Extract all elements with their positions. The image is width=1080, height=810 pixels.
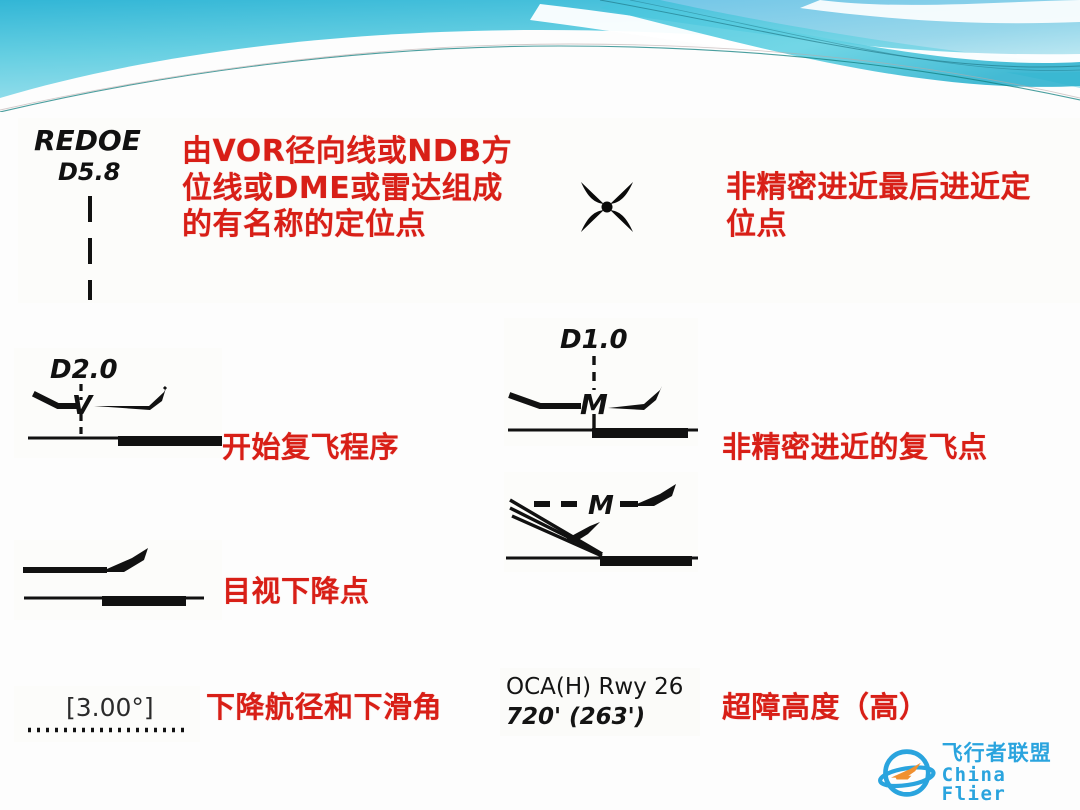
missed-approach-start-symbol: D2.0 V [14, 348, 222, 458]
watermark-chinese: 飞行者联盟 [942, 743, 1074, 764]
caption-oca: 超障高度（高） [722, 690, 1022, 725]
slide-canvas: REDOE D5.8 由VOR径向线或NDB方位线或DME或雷达组成的有名称的定… [0, 0, 1080, 810]
missed-approach-point-symbol: D1.0 M [504, 318, 698, 446]
caption-missed-approach-start: 开始复飞程序 [222, 430, 502, 465]
watermark-text: 飞行者联盟 China Flier [942, 743, 1074, 804]
caption-descent-path-angle: 下降航径和下滑角 [206, 690, 496, 725]
oca-line1-label: OCA(H) Rwy 26 [506, 674, 683, 700]
descent-path-angle-graphic: [3.00°] [14, 686, 200, 742]
named-fix-distance-label: D5.8 [58, 158, 120, 186]
named-fix-graphic: REDOE D5.8 [18, 118, 168, 303]
oca-box-graphic: OCA(H) Rwy 26 720' (263') [500, 668, 700, 736]
visual-descent-point-graphic [14, 540, 222, 620]
header-decorative-band [0, 0, 1080, 112]
missed-approach-start-graphic: D2.0 V [14, 348, 222, 458]
glide-angle-label: [3.00°] [66, 693, 154, 722]
vdp-runway-bar [102, 596, 186, 606]
caption-visual-descent-point: 目视下降点 [222, 574, 472, 609]
missed-approach-profile-graphic: M [504, 472, 698, 572]
missed-approach-point-graphic: D1.0 M [504, 318, 698, 446]
map-point-marker-label: M [580, 388, 608, 421]
maltese-cross-graphic [568, 168, 646, 246]
map-point-distance-label: D1.0 [560, 325, 628, 355]
profile-runway-bar [600, 556, 692, 566]
caption-missed-approach-point: 非精密进近的复飞点 [722, 430, 1062, 465]
watermark-logo: 飞行者联盟 China Flier [878, 740, 1074, 806]
map-point-runway-bar [592, 428, 688, 438]
oca-line2-label: 720' (263') [506, 704, 645, 730]
map-start-runway-bar [118, 436, 222, 446]
visual-descent-point-symbol [14, 540, 222, 620]
caption-maltese-cross: 非精密进近最后进近定位点 [726, 170, 1046, 243]
caption-named-fix: 由VOR径向线或NDB方位线或DME或雷达组成的有名称的定位点 [182, 134, 527, 244]
airplane-orbit-icon [878, 744, 936, 802]
named-fix-name-label: REDOE [34, 124, 141, 157]
oca-box-symbol: OCA(H) Rwy 26 720' (263') [500, 668, 700, 736]
maltese-cross-symbol [568, 168, 646, 246]
map-start-distance-label: D2.0 [50, 355, 118, 385]
map-start-arrow-tip [164, 387, 166, 389]
watermark-english: China Flier [942, 766, 1074, 804]
missed-approach-profile-symbol: M [504, 472, 698, 572]
header-wave-graphic [0, 0, 1080, 112]
descent-path-angle-symbol: [3.00°] [14, 686, 200, 742]
profile-marker-label: M [588, 491, 614, 521]
map-start-marker-label: V [72, 391, 94, 421]
